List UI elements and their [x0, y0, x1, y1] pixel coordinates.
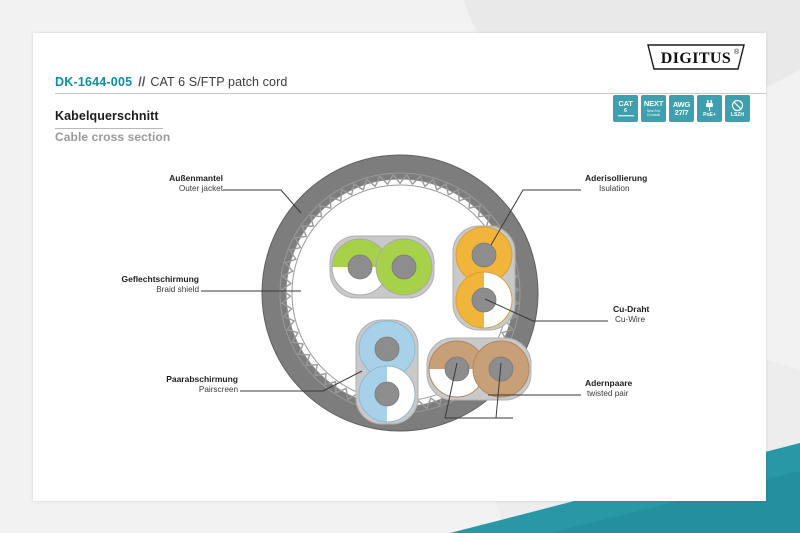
label-braid-shield-en: Braid shield — [69, 285, 199, 296]
label-twisted-pair-en: twisted pair — [585, 389, 735, 400]
cu-wire-brown-striped — [445, 357, 469, 381]
label-outer-jacket: Außenmantel Outer jacket — [93, 173, 223, 194]
label-isolation-de: Aderisollierung — [585, 173, 735, 184]
pair-brown — [427, 338, 531, 400]
label-cu-wire-en: Cu-Wire — [613, 315, 763, 326]
label-isolation: Aderisollierung Isulation — [585, 173, 735, 194]
label-outer-jacket-en: Outer jacket — [93, 184, 223, 195]
label-pairscreen-en: Pairscreen — [108, 385, 238, 396]
cu-wire-orange-solid — [472, 243, 496, 267]
label-braid-shield: Geflechtschirmung Braid shield — [69, 274, 199, 295]
pair-blue — [356, 320, 418, 424]
label-braid-shield-de: Geflechtschirmung — [69, 274, 199, 285]
cu-wire-blue-solid — [375, 337, 399, 361]
cu-wire-green-striped — [348, 255, 372, 279]
label-isolation-en: Isulation — [585, 184, 735, 195]
label-twisted-pair-de: Adernpaare — [585, 378, 735, 389]
label-cu-wire: Cu-Draht Cu-Wire — [613, 304, 763, 325]
cu-wire-brown-solid — [489, 357, 513, 381]
label-cu-wire-de: Cu-Draht — [613, 304, 763, 315]
label-twisted-pair: Adernpaare twisted pair — [585, 378, 735, 399]
cu-wire-blue-striped — [375, 382, 399, 406]
cable-cross-section — [33, 33, 766, 501]
cu-wire-orange-striped — [472, 288, 496, 312]
label-pairscreen-de: Paarabschirmung — [108, 374, 238, 385]
label-outer-jacket-de: Außenmantel — [93, 173, 223, 184]
label-pairscreen: Paarabschirmung Pairscreen — [108, 374, 238, 395]
pair-green — [330, 236, 434, 298]
content-card: DIGITUS ® DK-1644-005//CAT 6 S/FTP patch… — [33, 33, 766, 501]
cu-wire-green-solid — [392, 255, 416, 279]
pair-orange — [453, 226, 515, 330]
slide-background: DIGITUS ® DK-1644-005//CAT 6 S/FTP patch… — [0, 0, 800, 533]
